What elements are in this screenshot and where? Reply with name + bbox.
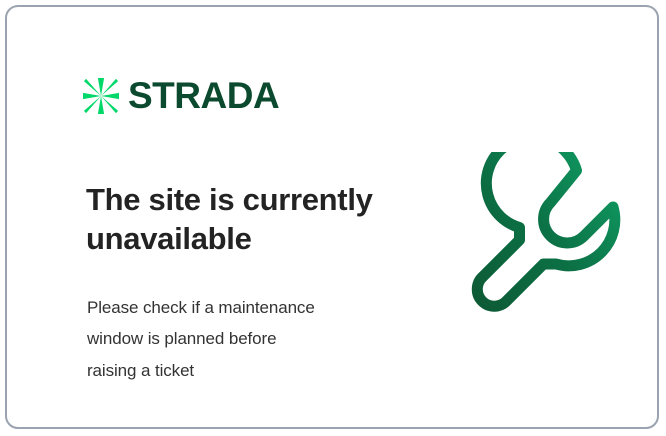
page-title: The site is currently unavailable	[86, 180, 416, 258]
brand-logo: STRADA	[83, 77, 279, 114]
description-line: Please check if a maintenance	[87, 292, 397, 323]
error-page-card: STRADA The site is currently unavailable…	[5, 5, 659, 429]
brand-wordmark: STRADA	[128, 77, 279, 114]
page-description: Please check if a maintenance window is …	[87, 292, 397, 386]
wrench-icon	[459, 152, 623, 322]
description-line: raising a ticket	[87, 355, 397, 386]
starburst-icon	[83, 78, 119, 114]
description-line: window is planned before	[87, 323, 397, 354]
